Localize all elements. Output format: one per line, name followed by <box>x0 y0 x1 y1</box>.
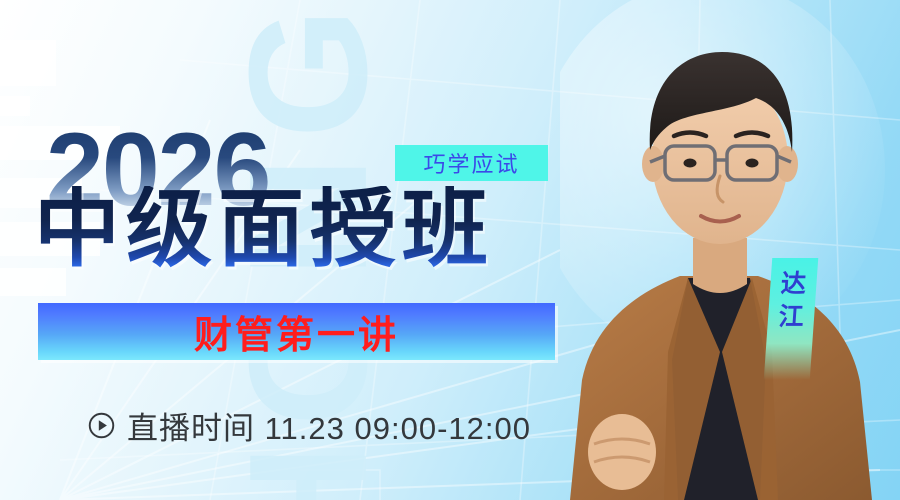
decorative-block <box>0 40 56 86</box>
instructor-name-char-1: 达 <box>780 272 807 297</box>
badge-label: 巧学应试 <box>395 145 548 181</box>
promo-banner: ZHONGJI <box>0 0 900 500</box>
instructor-name-char-2: 江 <box>778 305 805 330</box>
live-time-text: 直播时间 11.23 09:00-12:00 <box>127 403 531 448</box>
decorative-block <box>0 96 30 116</box>
instructor-photo <box>560 0 900 500</box>
subtitle-text: 财管第一讲 <box>194 304 399 359</box>
instructor-name-tag: 达 江 <box>764 258 819 380</box>
play-circle-icon <box>88 412 115 439</box>
page-title: 中级面授班 <box>34 186 494 272</box>
subtitle-bar: 财管第一讲 <box>38 303 555 360</box>
live-time-row: 直播时间 11.23 09:00-12:00 <box>88 404 531 446</box>
